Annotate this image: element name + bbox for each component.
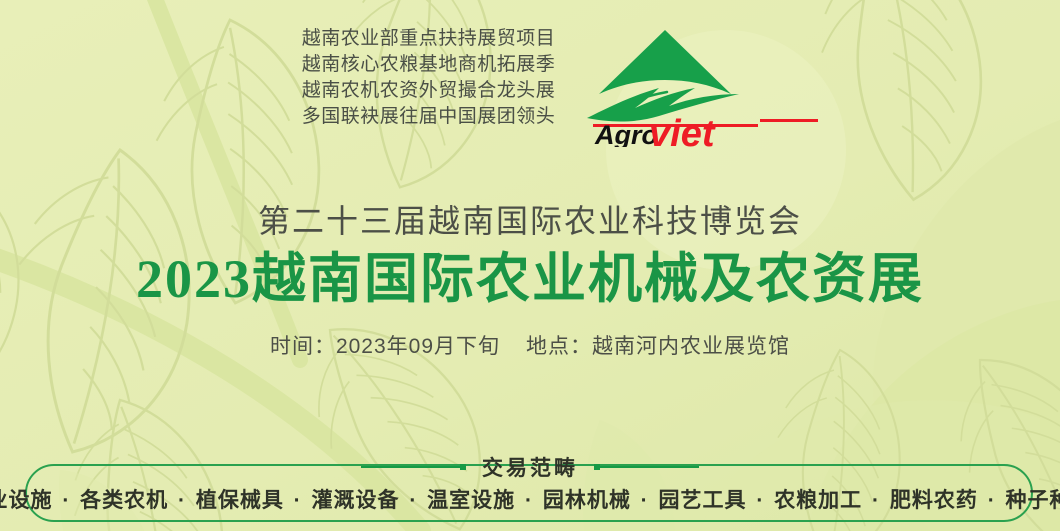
divider-dot-left	[460, 464, 466, 470]
divider-dot-right	[594, 464, 600, 470]
divider-line-left	[361, 466, 466, 468]
scope-item: 种子种苗	[1006, 489, 1060, 512]
scope-item: 园艺工具	[659, 489, 747, 512]
scope-item: 肥料农药	[890, 489, 978, 512]
headline-block: 第二十三届越南国际农业科技博览会 2023越南国际农业机械及农资展 时间：202…	[0, 198, 1060, 362]
scope-item: 温室设施	[427, 489, 515, 512]
scope-item: 园林机械	[543, 489, 631, 512]
scope-heading-row: 交易范畴	[0, 452, 1060, 482]
exhibition-poster: 越南农业部重点扶持展贸项目 越南核心农粮基地商机拓展季 越南农机农资外贸撮合龙头…	[0, 0, 1060, 531]
time-value: 2023年09月下旬	[336, 335, 500, 358]
tagline-item: 越南农机农资外贸撮合龙头展	[302, 78, 556, 104]
logo-red-rule	[760, 119, 818, 122]
poster-header: 越南农业部重点扶持展贸项目 越南核心农粮基地商机拓展季 越南农机农资外贸撮合龙头…	[0, 22, 1060, 147]
scope-item: 灌溉设备	[312, 489, 400, 512]
place-label: 地点：	[526, 335, 592, 358]
scope-item: 农粮加工	[774, 489, 862, 512]
poster-subtitle: 第二十三届越南国际农业科技博览会	[0, 198, 1060, 244]
poster-title: 2023越南国际农业机械及农资展	[0, 244, 1060, 314]
tagline-item: 越南农业部重点扶持展贸项目	[302, 26, 556, 52]
scope-separator: ·	[862, 489, 890, 512]
time-label: 时间：	[270, 335, 336, 358]
place-value: 越南河内农业展览馆	[592, 335, 790, 358]
scope-item: 农业设施	[0, 489, 52, 512]
scope-separator: ·	[400, 489, 428, 512]
scope-separator: ·	[284, 489, 312, 512]
divider-line-right	[594, 466, 699, 468]
scope-separator: ·	[168, 489, 196, 512]
scope-separator: ·	[747, 489, 775, 512]
tagline-item: 越南核心农粮基地商机拓展季	[302, 52, 556, 78]
event-meta: 时间：2023年09月下旬地点：越南河内农业展览馆	[0, 332, 1060, 362]
scope-item: 各类农机	[80, 489, 168, 512]
scope-heading-label: 交易范畴	[476, 452, 584, 482]
tagline-item: 多国联袂展往届中国展团领头	[302, 104, 556, 130]
scope-separator: ·	[978, 489, 1006, 512]
scope-separator: ·	[515, 489, 543, 512]
scope-separator: ·	[52, 489, 80, 512]
scope-separator: ·	[631, 489, 659, 512]
tagline-list: 越南农业部重点扶持展贸项目 越南核心农粮基地商机拓展季 越南农机农资外贸撮合龙头…	[302, 22, 556, 130]
scope-item-list: 农业设施 · 各类农机 · 植保械具 · 灌溉设备 · 温室设施 · 园林机械 …	[0, 484, 1060, 514]
logo-word-viet: viet	[649, 113, 716, 147]
agroviet-logo: Agro viet	[573, 22, 758, 147]
scope-item: 植保械具	[196, 489, 284, 512]
